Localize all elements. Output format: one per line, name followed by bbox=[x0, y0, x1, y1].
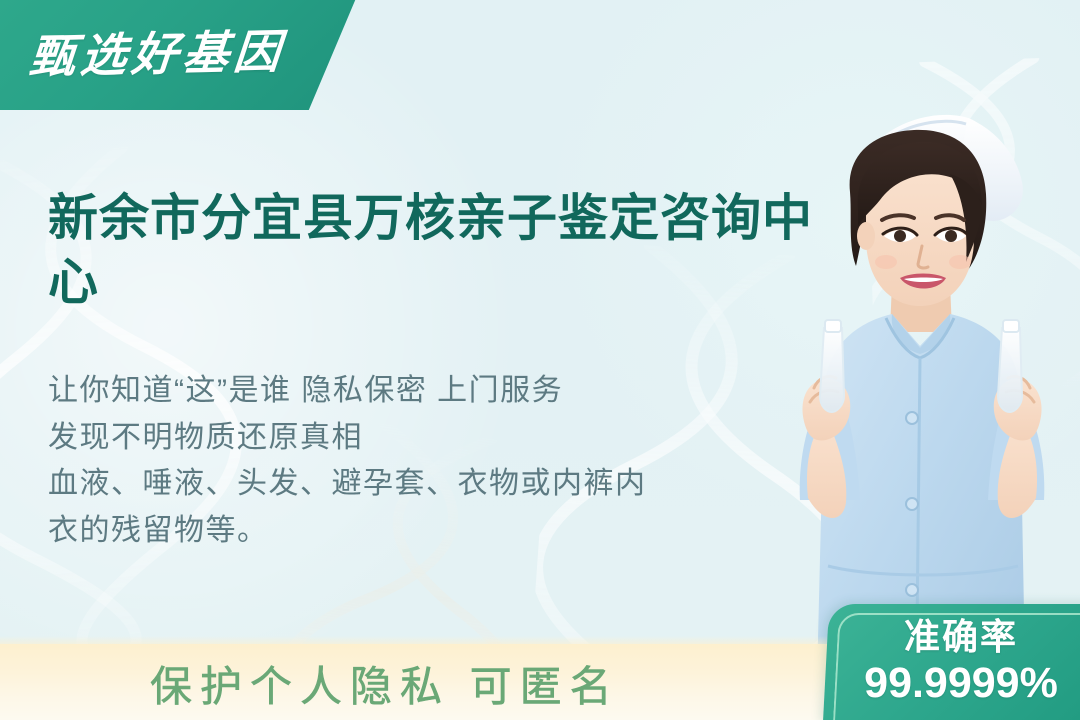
brand-logo-text: 甄选好基因 bbox=[27, 15, 288, 86]
accuracy-badge-content: 准确率 99.9999% bbox=[826, 604, 1080, 720]
dna-helix-watermark-icon bbox=[864, 56, 1080, 394]
background-wash-left bbox=[0, 40, 620, 680]
page-title: 新余市分宜县万核亲子鉴定咨询中心 bbox=[48, 186, 848, 314]
body-copy: 让你知道“这”是谁 隐私保密 上门服务 发现不明物质还原真相 血液、唾液、头发、… bbox=[48, 368, 748, 554]
brand-logo-badge[interactable]: 甄选好基因 bbox=[0, 0, 362, 110]
privacy-tagline: 保护个人隐私 可匿名 bbox=[150, 653, 620, 714]
body-copy-line-4: 衣的残留物等。 bbox=[48, 508, 748, 555]
body-copy-line-1: 让你知道“这”是谁 隐私保密 上门服务 bbox=[48, 368, 748, 415]
accuracy-badge-value: 99.9999% bbox=[826, 659, 1080, 708]
body-copy-line-3: 血液、唾液、头发、避孕套、衣物或内裤内 bbox=[48, 461, 748, 508]
promotional-banner: 甄选好基因 新余市分宜县万核亲子鉴定咨询中心 让你知道“这”是谁 隐私保密 上门… bbox=[0, 0, 1080, 720]
accuracy-badge: 准确率 99.9999% bbox=[823, 604, 1080, 720]
body-copy-line-2: 发现不明物质还原真相 bbox=[48, 415, 748, 462]
accuracy-badge-label: 准确率 bbox=[826, 616, 1080, 657]
